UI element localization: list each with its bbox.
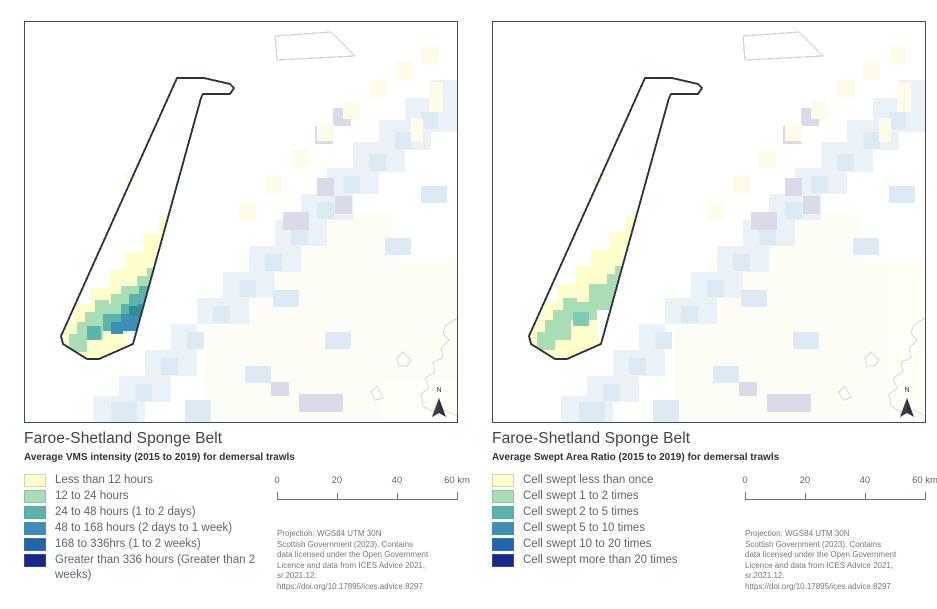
scale-tick-label: 20 [800, 475, 811, 486]
legend-item[interactable]: Less than 12 hours [24, 473, 276, 488]
scale-tick-label: 0 [742, 475, 747, 486]
legend-item-label: Cell swept 5 to 10 times [523, 521, 645, 536]
north-arrow-label: N [436, 387, 441, 394]
legend-item-label: 24 to 48 hours (1 to 2 days) [55, 505, 196, 520]
attribution-line: Projection: WGS84 UTM 30N [277, 529, 463, 540]
map-canvas-left [25, 22, 457, 422]
legend-item[interactable]: 24 to 48 hours (1 to 2 days) [24, 505, 276, 520]
scale-bar-tick [805, 493, 806, 500]
north-arrow-left: N [429, 388, 449, 418]
legend-item[interactable]: 48 to 168 hours (2 days to 1 week) [24, 521, 276, 536]
north-arrow-right: N [897, 388, 917, 418]
legend-item-label: 168 to 336hrs (1 to 2 weeks) [55, 537, 201, 552]
legend-item[interactable]: 12 to 24 hours [24, 489, 276, 504]
attribution-line: sr.2021.12. [745, 571, 931, 582]
map-frame-left[interactable]: N [24, 21, 458, 423]
legend-swatch [492, 554, 514, 567]
scale-bar-line [277, 499, 457, 500]
legend-item-label: Cell swept 1 to 2 times [523, 489, 639, 504]
scale-tick-label: 60 km [912, 475, 937, 486]
map-frame-right[interactable]: N [492, 21, 926, 423]
legend-item-label: Cell swept more than 20 times [523, 553, 678, 568]
attribution-right: Projection: WGS84 UTM 30N Scottish Gover… [745, 529, 931, 593]
legend-item-label: Greater than 336 hours (Greater than 2 w… [55, 553, 276, 582]
map-panel-vms-intensity: N Faroe-Shetland Sponge Belt Average VMS… [0, 0, 468, 609]
legend-swatch [24, 490, 46, 503]
scale-bar-tick [397, 493, 398, 500]
legend-left: Less than 12 hours 12 to 24 hours 24 to … [24, 473, 276, 583]
scale-tick-label: 20 [332, 475, 343, 486]
attribution-line: Licence and data from ICES Advice 2021, [277, 561, 463, 572]
legend-item[interactable]: Cell swept more than 20 times [492, 553, 744, 568]
north-arrow-icon [897, 396, 917, 418]
scale-tick-label: 0 [274, 475, 279, 486]
scale-bar-graphic [745, 491, 925, 503]
scale-bar-tick [337, 493, 338, 500]
legend-item[interactable]: Greater than 336 hours (Greater than 2 w… [24, 553, 276, 582]
legend-right: Cell swept less than once Cell swept 1 t… [492, 473, 744, 569]
attribution-line: sr.2021.12. [277, 571, 463, 582]
map-panel-swept-area-ratio: N Faroe-Shetland Sponge Belt Average Swe… [468, 0, 936, 609]
north-arrow-icon [429, 396, 449, 418]
scale-bar-line [745, 499, 925, 500]
legend-swatch [492, 490, 514, 503]
scale-tick-label: 40 [860, 475, 871, 486]
legend-item[interactable]: Cell swept 10 to 20 times [492, 537, 744, 552]
scale-bar-tick [745, 492, 746, 500]
legend-item[interactable]: Cell swept 1 to 2 times [492, 489, 744, 504]
legend-item[interactable]: Cell swept 2 to 5 times [492, 505, 744, 520]
page-title-right: Faroe-Shetland Sponge Belt [492, 429, 924, 448]
legend-swatch [24, 538, 46, 551]
legend-swatch [492, 522, 514, 535]
attribution-line: data licensed under the Open Government [745, 550, 931, 561]
scale-bar-labels: 0 20 40 60 km [277, 475, 457, 488]
scale-tick-label: 60 km [444, 475, 470, 486]
map-subtitle-right: Average Swept Area Ratio (2015 to 2019) … [492, 451, 924, 464]
attribution-line: Projection: WGS84 UTM 30N [745, 529, 931, 540]
legend-item-label: 48 to 168 hours (2 days to 1 week) [55, 521, 232, 536]
scale-bar-labels: 0 20 40 60 km [745, 475, 925, 488]
scale-bar-graphic [277, 491, 457, 503]
page-title-left: Faroe-Shetland Sponge Belt [24, 429, 456, 448]
scale-bar-tick [925, 492, 926, 500]
attribution-line: Scottish Government (2023). Contains [277, 540, 463, 551]
legend-item[interactable]: Cell swept less than once [492, 473, 744, 488]
legend-swatch [24, 506, 46, 519]
scale-bar-right: 0 20 40 60 km [745, 475, 925, 503]
scale-bar-tick [457, 492, 458, 500]
legend-swatch [24, 522, 46, 535]
legend-item-label: 12 to 24 hours [55, 489, 129, 504]
legend-swatch [492, 506, 514, 519]
scale-bar-tick [277, 492, 278, 500]
attribution-line: Licence and data from ICES Advice 2021, [745, 561, 931, 572]
attribution-left: Projection: WGS84 UTM 30N Scottish Gover… [277, 529, 463, 593]
legend-item[interactable]: Cell swept 5 to 10 times [492, 521, 744, 536]
figure-root: N Faroe-Shetland Sponge Belt Average VMS… [0, 0, 937, 609]
legend-item-label: Cell swept less than once [523, 473, 653, 488]
legend-item[interactable]: 168 to 336hrs (1 to 2 weeks) [24, 537, 276, 552]
scale-tick-label: 40 [392, 475, 403, 486]
legend-item-label: Cell swept 10 to 20 times [523, 537, 651, 552]
legend-swatch [492, 474, 514, 487]
map-canvas-right [493, 22, 925, 422]
scale-bar-tick [865, 493, 866, 500]
attribution-line: data licensed under the Open Government [277, 550, 463, 561]
legend-item-label: Less than 12 hours [55, 473, 153, 488]
attribution-line: Scottish Government (2023). Contains [745, 540, 931, 551]
attribution-doi-link[interactable]: https://doi.org/10.17895/ices.advice.829… [277, 582, 463, 593]
scale-bar-left: 0 20 40 60 km [277, 475, 457, 503]
north-arrow-label: N [904, 387, 909, 394]
attribution-doi-link[interactable]: https://doi.org/10.17895/ices.advice.829… [745, 582, 931, 593]
legend-swatch [492, 538, 514, 551]
caption-left: Faroe-Shetland Sponge Belt Average VMS i… [24, 429, 456, 464]
map-subtitle-left: Average VMS intensity (2015 to 2019) for… [24, 451, 456, 464]
legend-swatch [24, 554, 46, 567]
caption-right: Faroe-Shetland Sponge Belt Average Swept… [492, 429, 924, 464]
legend-swatch [24, 474, 46, 487]
legend-item-label: Cell swept 2 to 5 times [523, 505, 639, 520]
